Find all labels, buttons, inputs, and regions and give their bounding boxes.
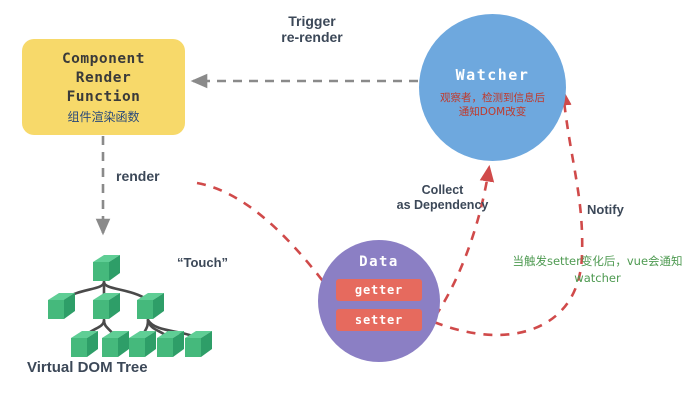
watcher-title: Watcher xyxy=(456,66,530,84)
render-box-line-1: Component xyxy=(62,50,145,69)
vdom-tree-edges xyxy=(62,282,195,337)
arrow-touch-getter xyxy=(197,183,335,297)
vdom-node-l3 xyxy=(129,331,156,357)
vdom-node-c1 xyxy=(48,293,75,319)
label-notify: Notify xyxy=(587,202,657,218)
data-title: Data xyxy=(359,254,399,270)
vdom-node-l4 xyxy=(157,331,184,357)
getter-box[interactable]: getter xyxy=(336,279,422,301)
render-box-line-2: Render xyxy=(76,69,131,88)
label-trigger-rerender: Trigger re-render xyxy=(247,13,377,45)
data-node[interactable]: Data getter setter xyxy=(318,240,440,362)
label-virtual-dom-tree: Virtual DOM Tree xyxy=(27,360,187,376)
watcher-node[interactable]: Watcher 观察者，检测到信息后通知DOM改变 xyxy=(419,14,566,161)
vdom-node-l1 xyxy=(71,331,98,357)
vdom-node-l2 xyxy=(102,331,129,357)
watcher-note-cn-line-2: 通知DOM改变 xyxy=(459,106,526,118)
watcher-note-cn-line-1: 观察者，检测到信息后 xyxy=(440,92,545,104)
vdom-node-c2 xyxy=(93,293,120,319)
label-collect-as-dependency: Collect as Dependency xyxy=(380,183,505,213)
label-render: render xyxy=(116,168,186,184)
label-touch: “Touch” xyxy=(177,255,247,271)
component-render-function-node[interactable]: Component Render Function 组件渲染函数 xyxy=(22,39,185,135)
vdom-node-root xyxy=(93,255,120,281)
setter-note-cn: 当触发setter变化后，vue会通知watcher xyxy=(500,253,695,287)
diagram-canvas: Component Render Function 组件渲染函数 Watcher… xyxy=(0,0,695,400)
render-box-subtitle-cn: 组件渲染函数 xyxy=(67,110,139,124)
render-box-line-3: Function xyxy=(67,88,141,107)
setter-box[interactable]: setter xyxy=(336,309,422,331)
watcher-note-cn: 观察者，检测到信息后通知DOM改变 xyxy=(440,91,545,119)
